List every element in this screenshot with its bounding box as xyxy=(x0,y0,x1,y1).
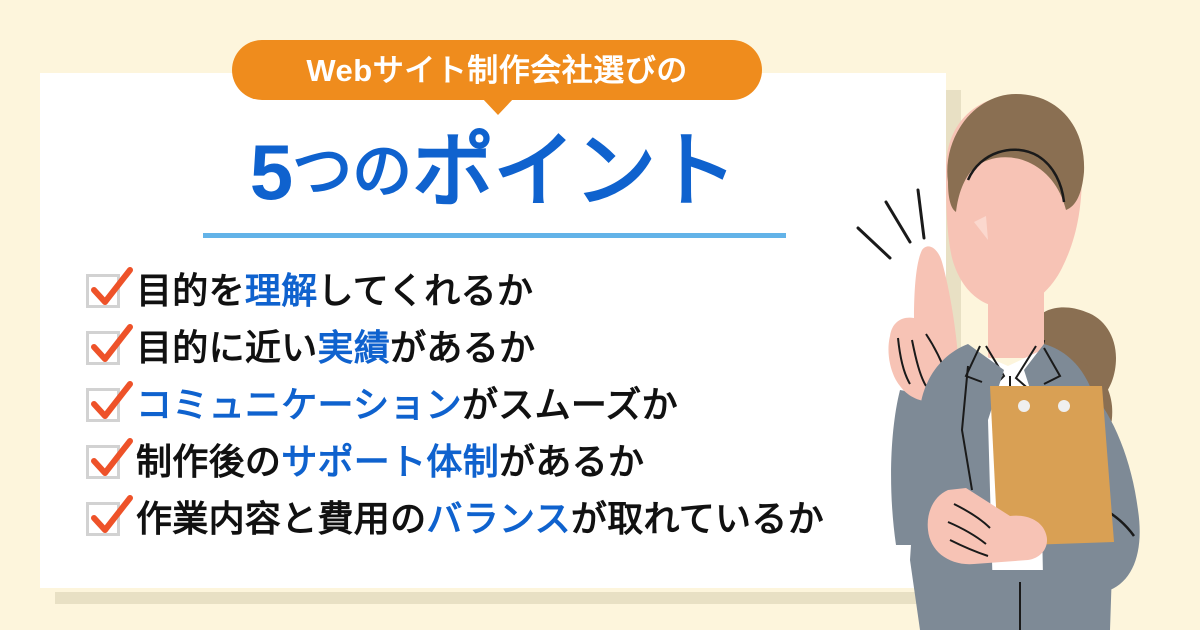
checkbox-checked-icon[interactable] xyxy=(86,445,120,479)
eyebrow-badge-label: Webサイト制作会社選びの xyxy=(306,55,687,86)
label-plain: 作業内容と費用の xyxy=(136,498,426,539)
checklist-item-label: 作業内容と費用のバランスが取れているか xyxy=(136,501,824,537)
title-number: 5 xyxy=(250,133,292,211)
checklist-item[interactable]: 目的に近い実績があるか xyxy=(86,319,824,376)
label-highlight: コミュニケーション xyxy=(136,384,462,425)
label-plain: がスムーズか xyxy=(462,384,678,425)
checklist-item-label: コミュニケーションがスムーズか xyxy=(136,387,678,423)
checklist-item-label: 目的に近い実績があるか xyxy=(136,330,535,366)
label-plain: してくれるか xyxy=(318,270,534,311)
checklist-item[interactable]: 目的を理解してくれるか xyxy=(86,262,824,319)
title-middle: つの xyxy=(292,142,412,202)
label-highlight: 理解 xyxy=(245,270,318,311)
emphasis-lines-icon xyxy=(858,190,924,258)
businesswoman-illustration xyxy=(838,90,1200,630)
checkbox-checked-icon[interactable] xyxy=(86,274,120,308)
poster-canvas: Webサイト制作会社選びの 5 つの ポイント 目的を理解してくれるか目的に近い… xyxy=(0,0,1200,630)
points-checklist: 目的を理解してくれるか目的に近い実績があるかコミュニケーションがスムーズか制作後… xyxy=(86,262,824,547)
title-underline xyxy=(203,233,786,238)
label-highlight: バランス xyxy=(426,498,570,539)
eyebrow-badge: Webサイト制作会社選びの xyxy=(232,40,762,100)
title-emphasis: ポイント xyxy=(412,131,736,213)
checklist-item[interactable]: 作業内容と費用のバランスが取れているか xyxy=(86,490,824,547)
checklist-item-label: 制作後のサポート体制があるか xyxy=(136,444,644,480)
label-plain: 制作後の xyxy=(136,441,281,482)
checkbox-checked-icon[interactable] xyxy=(86,502,120,536)
checklist-item-label: 目的を理解してくれるか xyxy=(136,273,533,309)
checklist-item[interactable]: 制作後のサポート体制があるか xyxy=(86,433,824,490)
checkbox-checked-icon[interactable] xyxy=(86,388,120,422)
label-plain: 目的に近い xyxy=(136,327,318,368)
label-highlight: 実績 xyxy=(318,327,391,368)
label-plain: があるか xyxy=(499,441,644,482)
eyebrow-badge-tail-icon xyxy=(482,98,514,115)
page-title: 5 つの ポイント xyxy=(40,122,946,222)
label-plain: 目的を xyxy=(136,270,245,311)
label-plain: が取れているか xyxy=(571,498,824,539)
checklist-item[interactable]: コミュニケーションがスムーズか xyxy=(86,376,824,433)
label-plain: があるか xyxy=(390,327,535,368)
label-highlight: サポート体制 xyxy=(281,441,499,482)
board-shadow-bottom xyxy=(55,592,961,604)
checkbox-checked-icon[interactable] xyxy=(86,331,120,365)
